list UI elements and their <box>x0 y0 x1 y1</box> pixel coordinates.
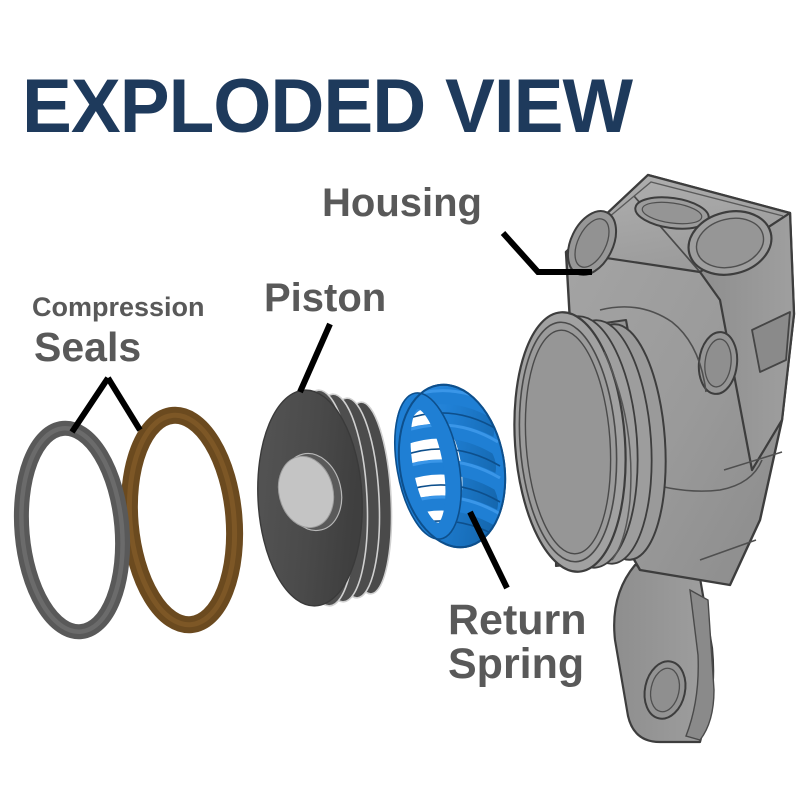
exploded-view-drawing: EXPLODED VIEW Housing Piston Compression… <box>0 0 800 800</box>
seal-brown-highlight <box>121 411 243 629</box>
label-housing: Housing <box>322 181 482 225</box>
label-spring: Spring <box>448 640 584 688</box>
leader-compression-seals-right <box>108 378 140 430</box>
part-seal-gray <box>13 424 130 636</box>
leader-piston <box>300 324 330 392</box>
label-return: Return <box>448 596 587 644</box>
part-piston <box>252 387 396 608</box>
part-seal-brown <box>121 411 243 629</box>
page-title: EXPLODED VIEW <box>22 64 633 149</box>
leader-compression-seals-left <box>72 378 108 432</box>
label-seals: Seals <box>34 324 141 370</box>
part-return-spring <box>385 376 518 556</box>
seal-gray-highlight <box>13 424 130 636</box>
label-compression: Compression <box>32 292 205 322</box>
label-piston: Piston <box>264 276 386 320</box>
exploded-view-figure: EXPLODED VIEW Housing Piston Compression… <box>0 0 800 800</box>
